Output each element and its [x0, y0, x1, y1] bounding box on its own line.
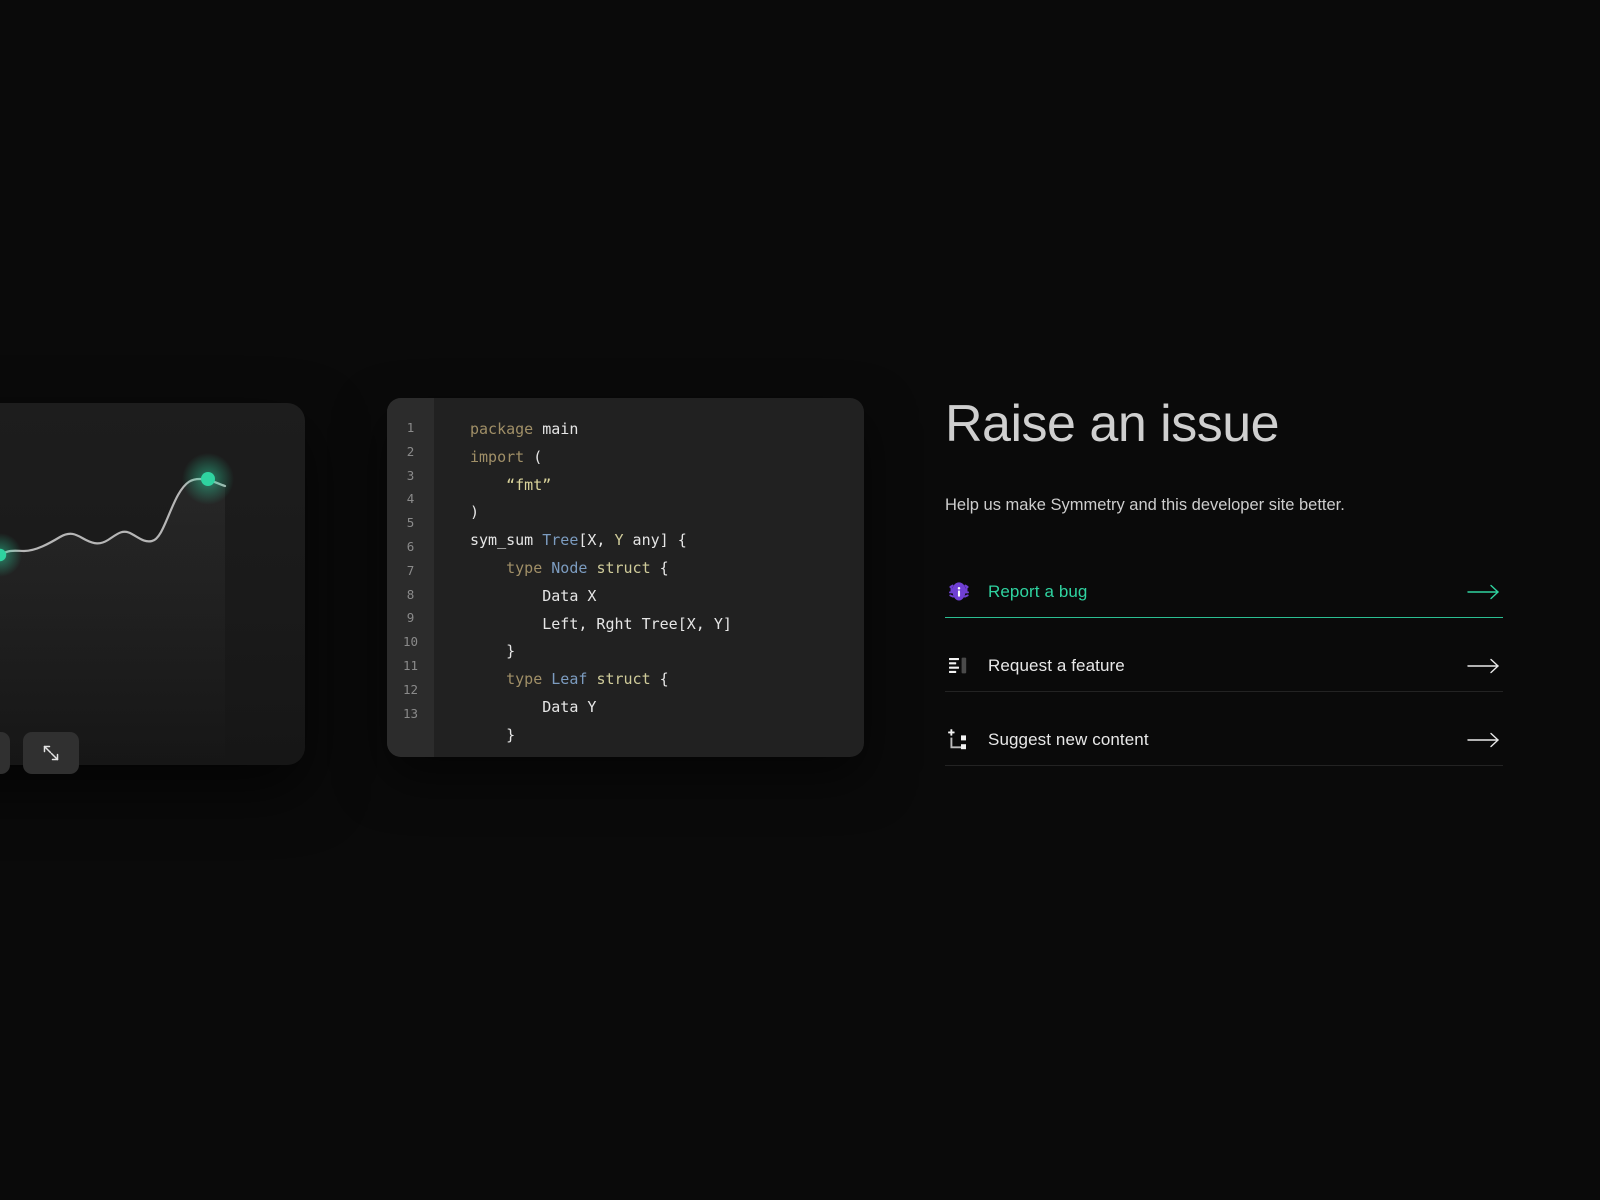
code-token: “fmt”	[506, 476, 551, 494]
code-line: import (	[470, 444, 864, 472]
page-title: Raise an issue	[945, 396, 1503, 452]
chart-range-toolbar: 1W 1M 1Y	[0, 732, 270, 774]
feature-list-icon	[945, 652, 973, 680]
code-line-number: 11	[387, 654, 434, 678]
code-line-number: 12	[387, 678, 434, 702]
code-token: package	[470, 420, 533, 438]
page-subtitle: Help us make Symmetry and this developer…	[945, 496, 1503, 515]
code-token: Data X	[470, 587, 596, 605]
raise-an-issue-panel: Raise an issue Help us make Symmetry and…	[945, 396, 1503, 766]
issue-link-label: Request a feature	[988, 656, 1125, 676]
bug-icon	[945, 578, 973, 606]
code-line: package main	[470, 416, 864, 444]
code-token: (	[524, 448, 542, 466]
code-token	[470, 670, 506, 688]
code-token: Data Y	[470, 698, 596, 716]
code-line-number: 10	[387, 630, 434, 654]
range-button-1y[interactable]: 1Y	[0, 732, 10, 774]
code-editor-card: 12345678910111213 package mainimport ( “…	[387, 398, 864, 757]
arrow-right-icon	[1467, 731, 1501, 749]
code-token: struct	[596, 670, 650, 688]
expand-chart-button[interactable]	[23, 732, 79, 774]
code-line-number: 2	[387, 440, 434, 464]
code-token: }	[470, 642, 515, 660]
code-token: struct	[596, 559, 650, 577]
code-token: Node	[551, 559, 587, 577]
issue-link-suggest-new-content[interactable]: Suggest new content	[945, 715, 1503, 766]
code-line: “fmt”	[470, 472, 864, 500]
code-line: type Leaf struct {	[470, 666, 864, 694]
code-token: sym_sum	[470, 531, 542, 549]
issue-link-label: Suggest new content	[988, 730, 1149, 750]
code-line: sym_sum Tree[X, Y any] {	[470, 527, 864, 555]
issue-link-request-a-feature[interactable]: Request a feature	[945, 641, 1503, 692]
code-token: }	[470, 726, 515, 744]
code-line-number-gutter: 12345678910111213	[387, 398, 434, 757]
sparkline-plot	[0, 403, 305, 765]
arrow-right-icon	[1467, 583, 1501, 601]
code-line-number: 9	[387, 606, 434, 630]
issue-links-list: Report a bug Reque	[945, 567, 1503, 766]
code-line-number: 3	[387, 464, 434, 488]
code-token	[470, 559, 506, 577]
sparkline-chart-card	[0, 403, 305, 765]
code-line: Data Y	[470, 694, 864, 722]
code-token: {	[651, 670, 669, 688]
code-line-number: 4	[387, 487, 434, 511]
arrow-right-icon	[1467, 657, 1501, 675]
code-token: main	[533, 420, 578, 438]
code-token: Leaf	[551, 670, 587, 688]
code-token	[542, 670, 551, 688]
code-token: Y	[615, 531, 624, 549]
code-line-number: 6	[387, 535, 434, 559]
code-token: import	[470, 448, 524, 466]
code-line-number: 1	[387, 416, 434, 440]
code-token	[470, 476, 506, 494]
code-token: {	[651, 559, 669, 577]
issue-link-report-a-bug[interactable]: Report a bug	[945, 567, 1503, 618]
code-token: Left, Rght Tree[X, Y]	[470, 615, 732, 633]
code-token: [X,	[578, 531, 614, 549]
add-content-icon	[945, 726, 973, 754]
code-token: Tree	[542, 531, 578, 549]
expand-icon	[41, 743, 61, 763]
code-line-number: 7	[387, 559, 434, 583]
code-line: Left, Rght Tree[X, Y]	[470, 611, 864, 639]
code-line-number: 8	[387, 583, 434, 607]
code-content[interactable]: package mainimport ( “fmt”)sym_sum Tree[…	[434, 398, 864, 757]
code-line: }	[470, 722, 864, 750]
code-line-number: 5	[387, 511, 434, 535]
code-line: )	[470, 499, 864, 527]
code-token: type	[506, 670, 542, 688]
code-token: )	[470, 503, 479, 521]
code-line: type Node struct {	[470, 555, 864, 583]
code-token	[542, 559, 551, 577]
code-token: any] {	[624, 531, 687, 549]
code-line: Data X	[470, 583, 864, 611]
code-line-number: 13	[387, 702, 434, 726]
code-line: }	[470, 638, 864, 666]
code-token: type	[506, 559, 542, 577]
issue-link-label: Report a bug	[988, 582, 1088, 602]
